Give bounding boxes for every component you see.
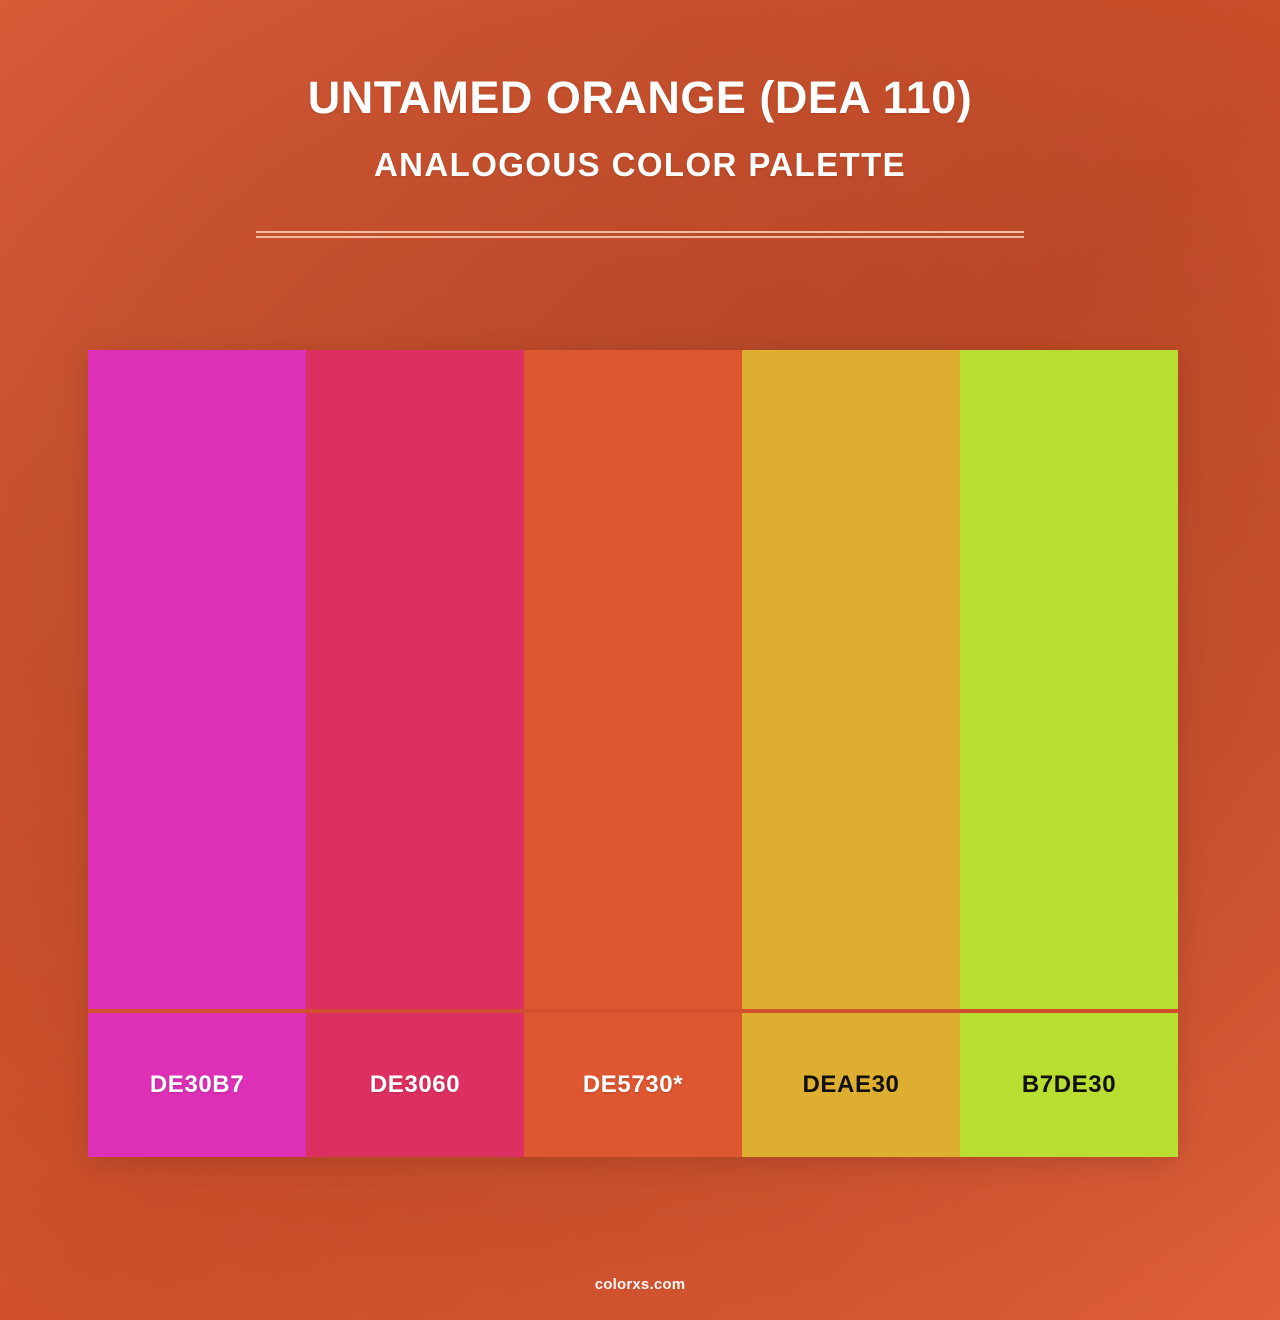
divider-rule-top	[256, 231, 1024, 233]
swatch-hex-label-5: B7DE30	[1022, 1071, 1116, 1099]
swatch-hex-label-4: DEAE30	[803, 1071, 900, 1099]
swatch-label-cell-5[interactable]: B7DE30	[960, 1013, 1178, 1157]
swatch-block-2[interactable]	[306, 350, 524, 1009]
swatch-hex-label-2: DE3060	[370, 1071, 460, 1099]
swatch-block-1[interactable]	[88, 350, 306, 1009]
divider-rule-bottom	[256, 236, 1024, 238]
palette-page: UNTAMED ORANGE (DEA 110) ANALOGOUS COLOR…	[0, 0, 1280, 1320]
page-title: UNTAMED ORANGE (DEA 110)	[0, 72, 1280, 124]
swatch-label-cell-4[interactable]: DEAE30	[742, 1013, 960, 1157]
swatch-row	[88, 350, 1178, 1009]
site-credit: colorxs.com	[595, 1276, 686, 1293]
swatch-block-5[interactable]	[960, 350, 1178, 1009]
swatch-label-cell-2[interactable]: DE3060	[306, 1013, 524, 1157]
header-divider	[256, 231, 1024, 238]
swatch-label-cell-3[interactable]: DE5730*	[524, 1013, 742, 1157]
swatch-block-3[interactable]	[524, 350, 742, 1009]
page-header: UNTAMED ORANGE (DEA 110) ANALOGOUS COLOR…	[0, 0, 1280, 184]
swatch-hex-label-1: DE30B7	[150, 1071, 244, 1099]
swatch-label-cell-1[interactable]: DE30B7	[88, 1013, 306, 1157]
swatch-hex-label-3: DE5730*	[583, 1071, 683, 1099]
page-subtitle: ANALOGOUS COLOR PALETTE	[0, 124, 1280, 184]
swatch-label-row: DE30B7 DE3060 DE5730* DEAE30 B7DE30	[88, 1013, 1178, 1157]
page-footer: colorxs.com	[0, 1276, 1280, 1294]
color-palette: DE30B7 DE3060 DE5730* DEAE30 B7DE30	[88, 350, 1178, 1157]
swatch-block-4[interactable]	[742, 350, 960, 1009]
